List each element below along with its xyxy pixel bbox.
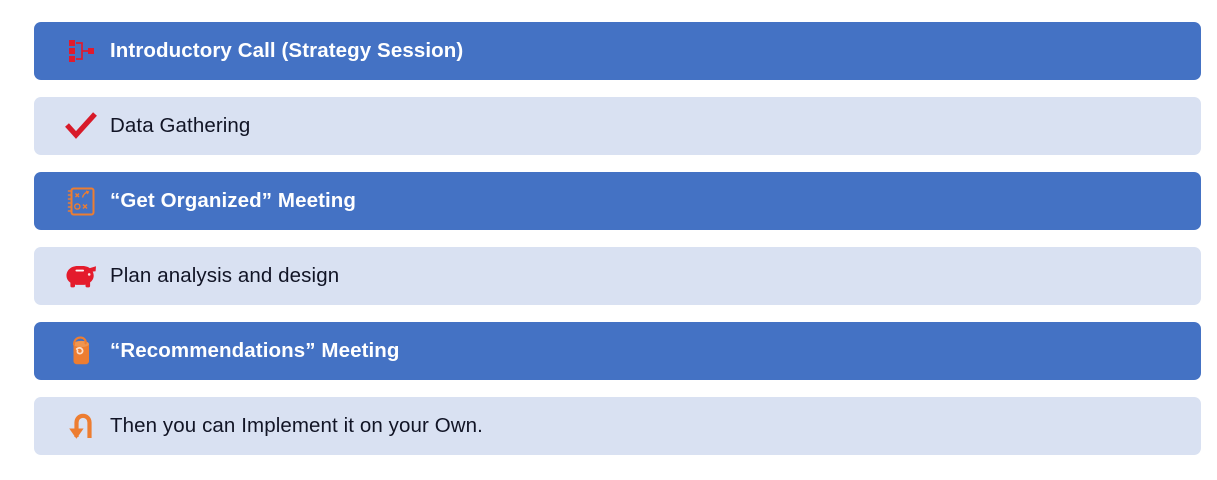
process-step-plan-analysis-design[interactable]: Plan analysis and design bbox=[34, 247, 1201, 305]
process-step-label: Data Gathering bbox=[110, 114, 250, 138]
process-step-implement-on-your-own[interactable]: Then you can Implement it on your Own. bbox=[34, 397, 1201, 455]
process-step-list: Introductory Call (Strategy Session) Dat… bbox=[34, 22, 1201, 455]
checkmark-icon bbox=[58, 106, 104, 146]
undo-arrow-icon bbox=[58, 406, 104, 446]
piggy-bank-icon bbox=[58, 256, 104, 296]
process-step-label: “Recommendations” Meeting bbox=[110, 339, 400, 363]
process-step-get-organized-meeting[interactable]: “Get Organized” Meeting bbox=[34, 172, 1201, 230]
process-step-recommendations-meeting[interactable]: “Recommendations” Meeting bbox=[34, 322, 1201, 380]
process-step-introductory-call[interactable]: Introductory Call (Strategy Session) bbox=[34, 22, 1201, 80]
process-step-label: Then you can Implement it on your Own. bbox=[110, 414, 483, 438]
process-step-data-gathering[interactable]: Data Gathering bbox=[34, 97, 1201, 155]
sitemap-icon bbox=[58, 31, 104, 71]
strategy-playbook-icon bbox=[58, 181, 104, 221]
paint-bucket-icon bbox=[58, 331, 104, 371]
process-step-label: Plan analysis and design bbox=[110, 264, 339, 288]
process-step-label: “Get Organized” Meeting bbox=[110, 189, 356, 213]
process-step-label: Introductory Call (Strategy Session) bbox=[110, 39, 463, 63]
